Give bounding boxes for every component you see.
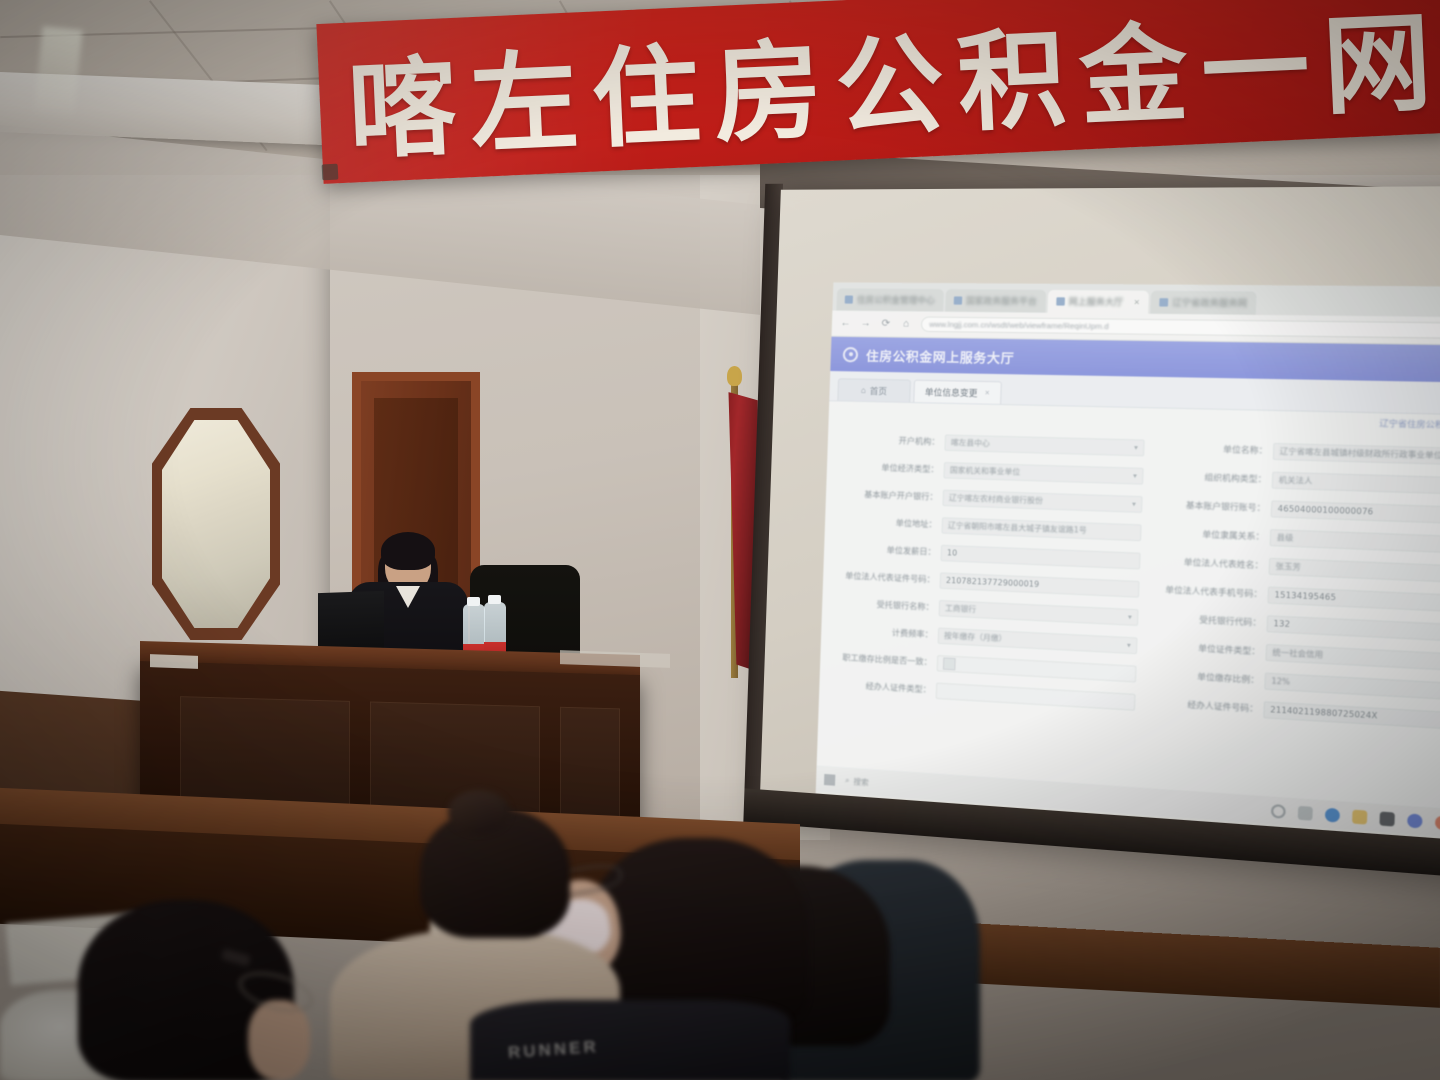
field-org-type[interactable]: 机关法人▾ xyxy=(1272,471,1440,495)
field-value: 机关法人 xyxy=(1279,474,1313,487)
field-label: 受托银行名称： xyxy=(828,597,934,613)
form-page: 辽宁省住房公积金管理中心 开户机构： 喀左县中心▾ 单位名称： 辽宁省喀左县城镇… xyxy=(816,401,1440,839)
field-label: 单位缴存比例： xyxy=(1145,668,1260,686)
field-legal-rep-phone[interactable]: 15134195465 xyxy=(1268,586,1440,613)
close-icon[interactable]: × xyxy=(1134,297,1140,308)
field-label: 单位名称： xyxy=(1153,442,1268,457)
field-label: 基本账户开户银行： xyxy=(832,488,938,503)
field-economic-type[interactable]: 国家机关和事业单位▾ xyxy=(943,462,1143,485)
field-payday[interactable]: 10 xyxy=(941,544,1141,569)
field-label: 受托银行代码： xyxy=(1147,612,1262,629)
app-title: 住房公积金网上服务大厅 xyxy=(866,345,1015,367)
audience-member-4-jacket xyxy=(470,1000,790,1080)
browser-tab-1[interactable]: 住房公积金管理中心 xyxy=(836,288,943,311)
field-label: 单位法人代表证件号码： xyxy=(829,570,935,586)
field-agent-cert-no[interactable]: 211402119880725024X xyxy=(1263,701,1440,731)
banner-clip-left xyxy=(322,164,339,181)
field-label: 单位法人代表姓名： xyxy=(1149,555,1264,571)
back-icon[interactable]: ← xyxy=(840,318,851,329)
close-icon[interactable]: × xyxy=(985,388,990,397)
browser-tab-active[interactable]: 网上服务大厅 × xyxy=(1047,290,1149,314)
projector-screen: 住房公积金管理中心 国家政务服务平台 网上服务大厅 × 辽宁省政务服务网 xyxy=(759,186,1440,875)
field-value: 辽宁喀左农村商业银行股份 xyxy=(949,492,1043,506)
bottle-cap xyxy=(467,597,480,606)
field-value: 张玉芳 xyxy=(1275,560,1301,573)
browser-tab-4[interactable]: 辽宁省政务服务网 xyxy=(1150,291,1256,315)
clock-icon[interactable] xyxy=(1407,813,1423,828)
field-label: 职工缴存比例是否一致： xyxy=(826,651,932,668)
wall-mirror-glass xyxy=(162,420,270,628)
field-value: 10 xyxy=(947,548,958,558)
chevron-down-icon: ▾ xyxy=(1134,443,1138,451)
home-icon: ⌂ xyxy=(861,386,866,395)
field-label: 计费频率： xyxy=(827,624,933,641)
field-affiliation[interactable]: 县级▾ xyxy=(1270,529,1440,554)
field-agent-cert-type[interactable] xyxy=(936,682,1136,710)
desk-paper-left xyxy=(150,654,198,669)
reload-icon[interactable]: ⟳ xyxy=(880,318,892,329)
address-bar[interactable]: www.lngjj.com.cn/wsdt/web/viewframe/Reqi… xyxy=(921,317,1440,340)
field-legal-rep-name[interactable]: 张玉芳 xyxy=(1269,557,1440,583)
field-value: 喀左县中心 xyxy=(951,437,990,449)
field-basic-account-bank[interactable]: 辽宁喀左农村商业银行股份▾ xyxy=(942,489,1142,512)
forward-icon[interactable]: → xyxy=(860,318,871,329)
field-open-institution[interactable]: 喀左县中心▾ xyxy=(944,434,1144,456)
nav-tab-home[interactable]: ⌂ 首页 xyxy=(837,378,911,402)
field-bank-account-no[interactable]: 46504000100000076 xyxy=(1271,500,1440,525)
chevron-down-icon: ▾ xyxy=(1127,641,1131,650)
field-legal-rep-id[interactable]: 210782137729000019 xyxy=(940,572,1140,597)
chevron-down-icon: ▾ xyxy=(1128,612,1132,621)
media-icon[interactable] xyxy=(1435,815,1440,830)
task-view-icon[interactable] xyxy=(1298,805,1313,820)
field-trustee-bank-name[interactable]: 工商银行▾ xyxy=(939,599,1139,625)
browser-tab-2[interactable]: 国家政务服务平台 xyxy=(945,289,1046,313)
provident-fund-logo-icon xyxy=(843,346,859,361)
mail-icon[interactable] xyxy=(1379,811,1394,826)
flag-finial xyxy=(727,366,742,386)
tab-label: 国家政务服务平台 xyxy=(966,294,1038,307)
nav-tab-label: 单位信息变更 xyxy=(925,385,978,398)
field-value: 辽宁省喀左县城镇村级财政所行政事业单位 xyxy=(1280,445,1440,461)
field-value: 工商银行 xyxy=(945,602,976,615)
tab-favicon xyxy=(845,295,853,303)
field-value: 按年缴存（月缴） xyxy=(944,630,1007,644)
start-button-icon[interactable] xyxy=(824,773,835,785)
bottle-cap xyxy=(488,595,501,604)
tab-label: 住房公积金管理中心 xyxy=(857,294,935,307)
nav-tab-label: 首页 xyxy=(870,384,888,397)
field-label: 单位法人代表手机号码： xyxy=(1148,583,1263,600)
checkbox[interactable] xyxy=(943,657,956,670)
conference-room-photo: 喀左住房公积金一网 住房公积金管理中心 国家政务服务平台 xyxy=(0,0,1440,1080)
field-label: 经办人证件号码： xyxy=(1144,697,1259,715)
tab-favicon xyxy=(1056,297,1065,305)
field-value: 132 xyxy=(1273,619,1290,629)
search-icon: ⌕ xyxy=(845,775,850,785)
home-icon[interactable]: ⌂ xyxy=(900,318,912,329)
nav-tab-unit-info-change[interactable]: 单位信息变更 × xyxy=(913,380,1001,404)
search-placeholder: 搜索 xyxy=(853,775,869,787)
presenter-hair xyxy=(381,532,435,570)
field-label: 单位隶属关系： xyxy=(1150,527,1265,543)
url-text: www.lngjj.com.cn/wsdt/web/viewframe/Reqi… xyxy=(929,320,1109,331)
tab-favicon xyxy=(1159,298,1168,306)
chevron-down-icon: ▾ xyxy=(1132,499,1136,507)
edge-icon[interactable] xyxy=(1325,807,1340,822)
field-value: 统一社会信用 xyxy=(1272,646,1323,660)
field-unit-address[interactable]: 辽宁省朝阳市喀左县大城子镇友谊路1号 xyxy=(942,517,1142,541)
field-value: 211402119880725024X xyxy=(1270,705,1378,721)
audience-member-1-face xyxy=(248,1000,310,1080)
field-unit-name[interactable]: 辽宁省喀左县城镇村级财政所行政事业单位 xyxy=(1273,442,1440,465)
taskbar-search[interactable]: ⌕ 搜索 xyxy=(845,775,869,788)
tab-label: 网上服务大厅 xyxy=(1068,295,1123,308)
field-label: 开户机构： xyxy=(834,434,940,448)
field-value: 210782137729000019 xyxy=(946,576,1040,589)
field-label: 单位发薪日： xyxy=(830,542,936,557)
field-value: 县级 xyxy=(1276,531,1293,543)
podium-panel-right xyxy=(560,707,620,829)
field-label: 单位地址： xyxy=(831,515,937,530)
field-value: 12% xyxy=(1271,676,1290,687)
cortana-icon[interactable] xyxy=(1271,803,1286,818)
field-label: 单位经济类型： xyxy=(833,461,939,475)
audience-member-2-bun xyxy=(448,790,510,834)
field-label: 组织机构类型： xyxy=(1152,470,1267,485)
field-label: 单位证件类型： xyxy=(1146,640,1261,657)
browser-window[interactable]: 住房公积金管理中心 国家政务服务平台 网上服务大厅 × 辽宁省政务服务网 xyxy=(816,282,1440,842)
unit-info-form: 开户机构： 喀左县中心▾ 单位名称： 辽宁省喀左县城镇村级财政所行政事业单位 单… xyxy=(819,407,1440,737)
field-label: 经办人证件类型： xyxy=(825,678,931,695)
tab-favicon xyxy=(953,296,962,304)
file-explorer-icon[interactable] xyxy=(1352,809,1367,824)
field-value: 46504000100000076 xyxy=(1278,504,1374,517)
wall-mirror-frame xyxy=(152,408,280,640)
field-value: 15134195465 xyxy=(1274,590,1336,602)
field-label: 基本账户银行账号： xyxy=(1151,499,1266,514)
chevron-down-icon: ▾ xyxy=(1133,471,1137,479)
field-value: 国家机关和事业单位 xyxy=(950,464,1021,477)
tab-label: 辽宁省政务服务网 xyxy=(1172,296,1247,309)
field-value: 辽宁省朝阳市喀左县大城子镇友谊路1号 xyxy=(948,519,1087,535)
